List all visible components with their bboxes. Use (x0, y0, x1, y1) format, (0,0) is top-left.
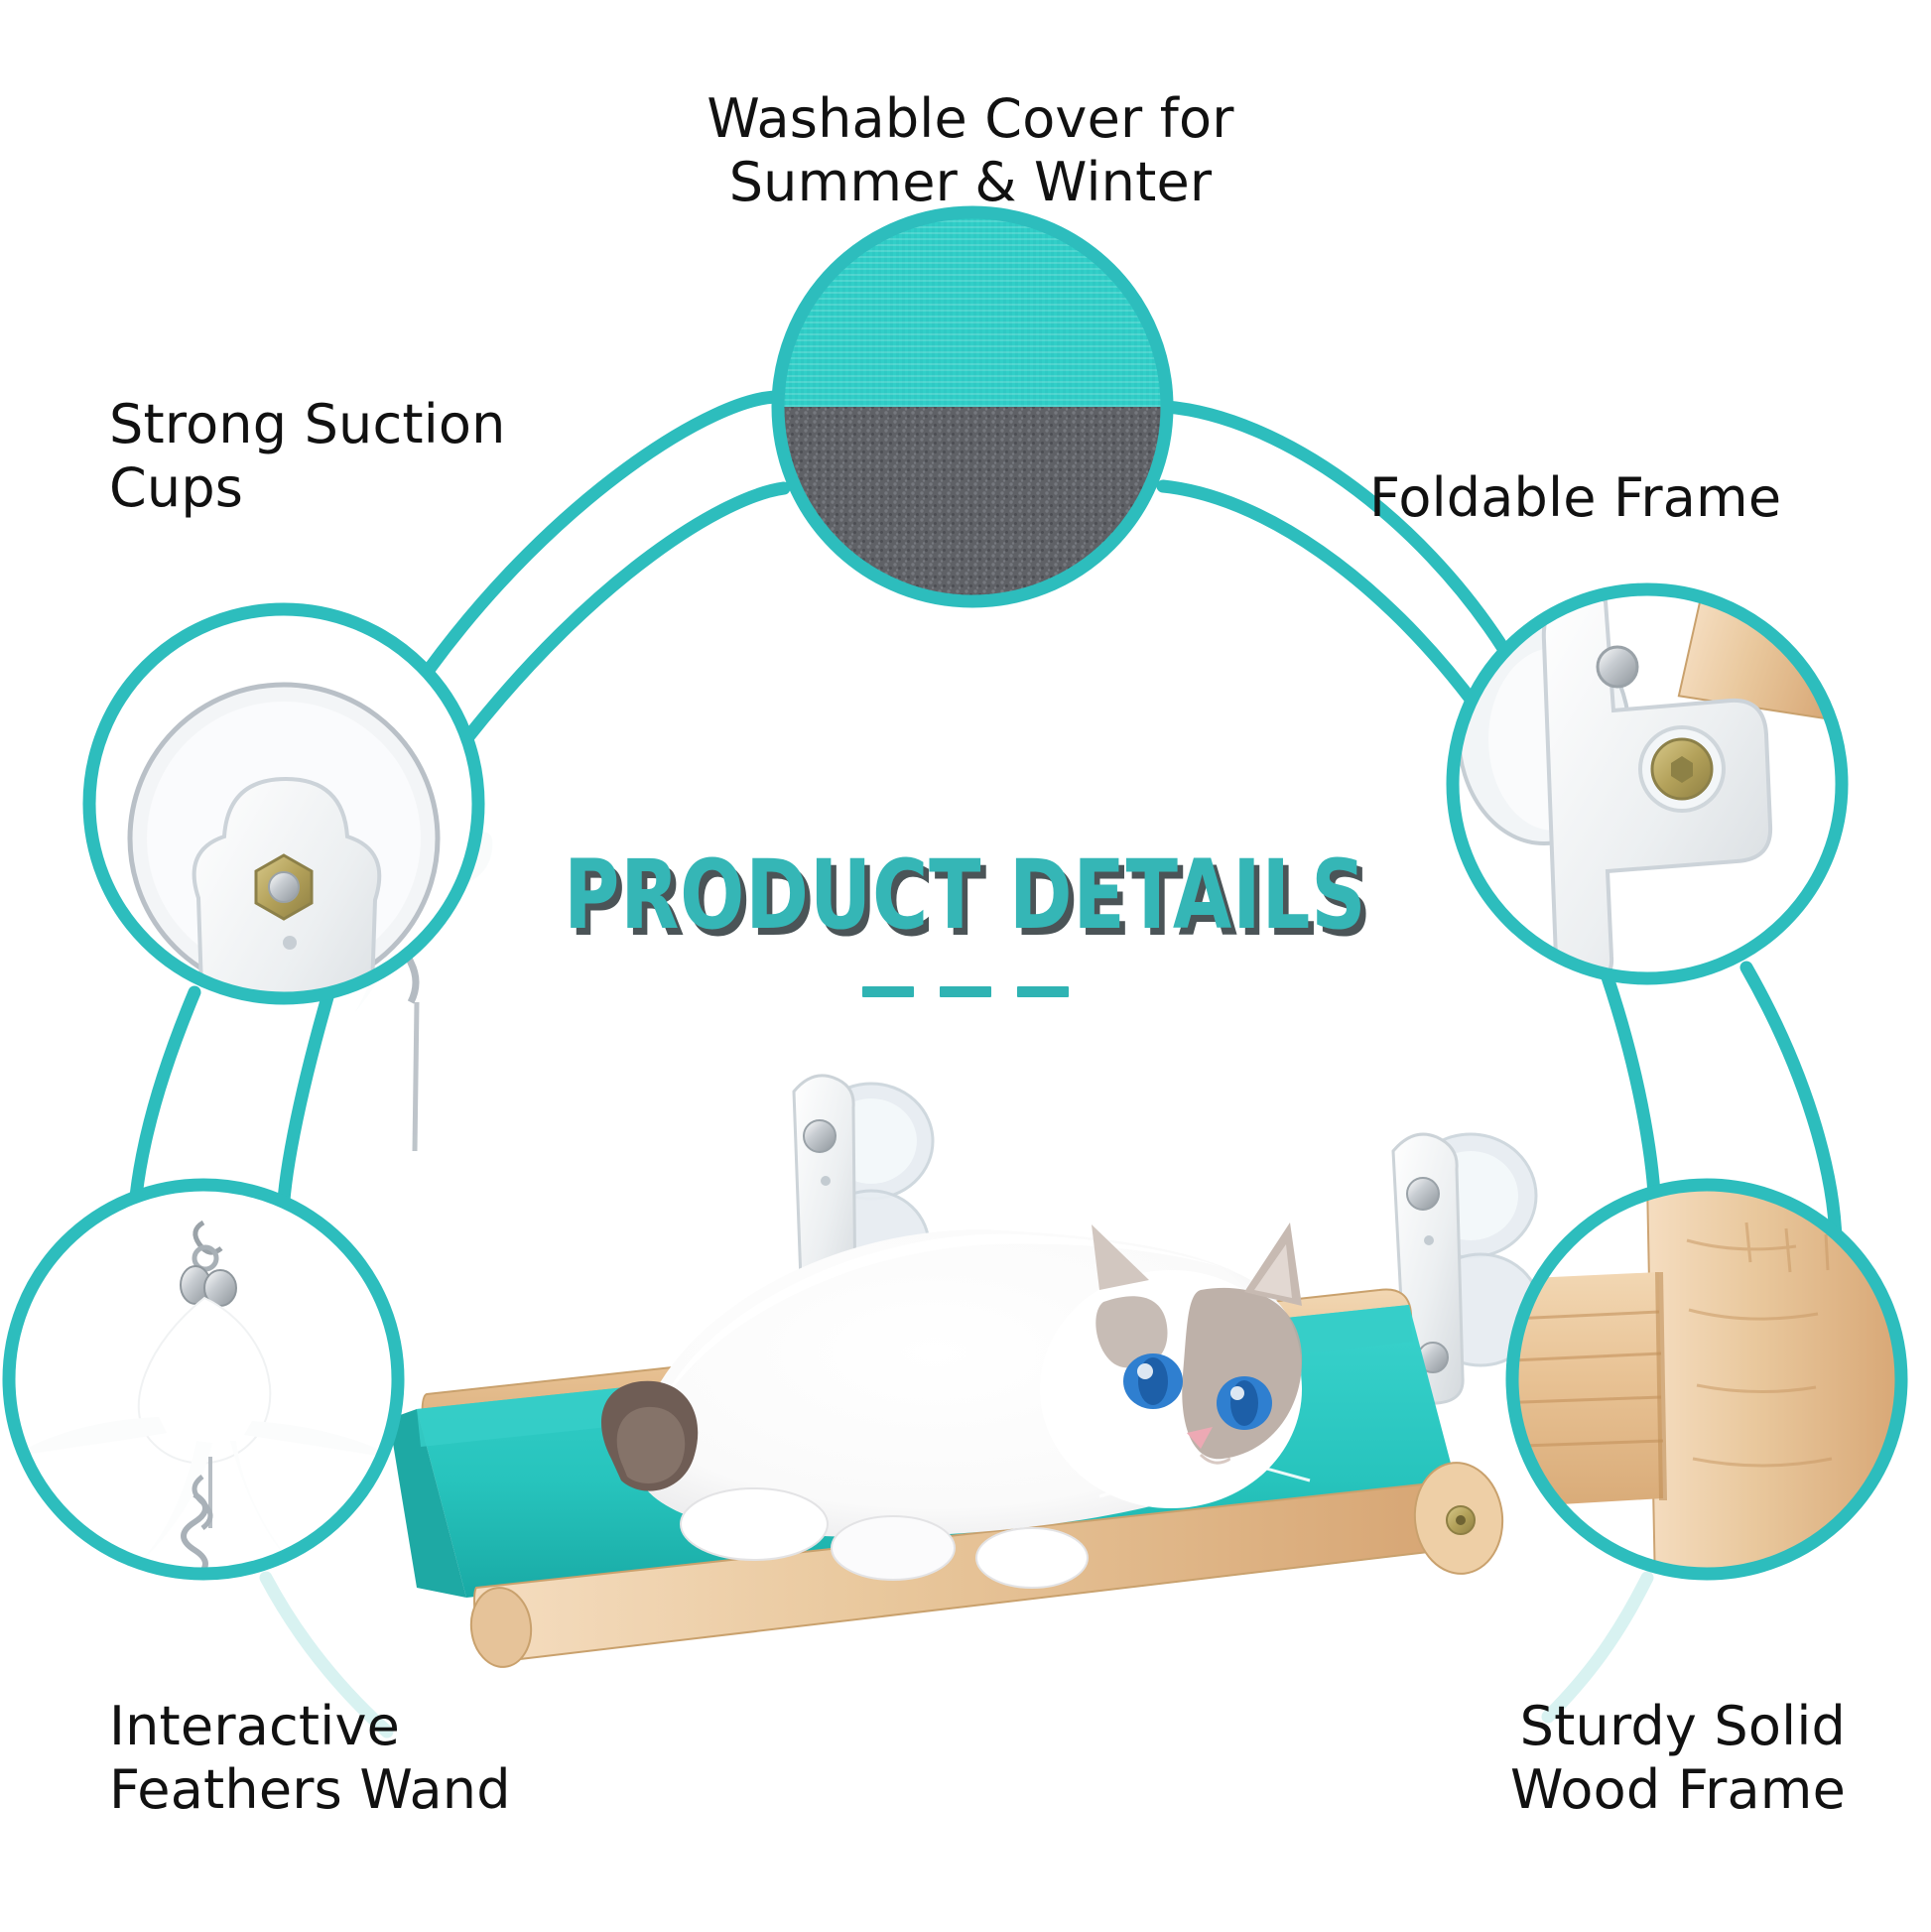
callout-label-washable-cover: Washable Cover for Summer & Winter (663, 87, 1278, 213)
callout-circle-wood-frame (1488, 1177, 1915, 1588)
callout-circle-washable-cover (778, 212, 1167, 601)
product-illustration (327, 693, 1540, 1670)
cat-eye-left (1123, 1353, 1183, 1409)
connector-ring (0, 0, 1931, 1932)
callout-circle-feathers-wand (9, 1185, 398, 1578)
callout-label-foldable-frame: Foldable Frame (1369, 466, 1846, 530)
callout-circle-suction-cups (89, 609, 478, 1108)
callout-label-interactive-feathers-wand: Interactive Feathers Wand (109, 1695, 724, 1821)
cat-eye-right (1217, 1376, 1272, 1430)
infographic-canvas: Washable Cover for Summer & Winter Stron… (0, 0, 1931, 1932)
callout-label-sturdy-solid-wood-frame: Sturdy Solid Wood Frame (1230, 1695, 1846, 1821)
callout-label-strong-suction-cups: Strong Suction Cups (109, 393, 625, 519)
callout-circle-foldable-frame (1453, 562, 1872, 984)
